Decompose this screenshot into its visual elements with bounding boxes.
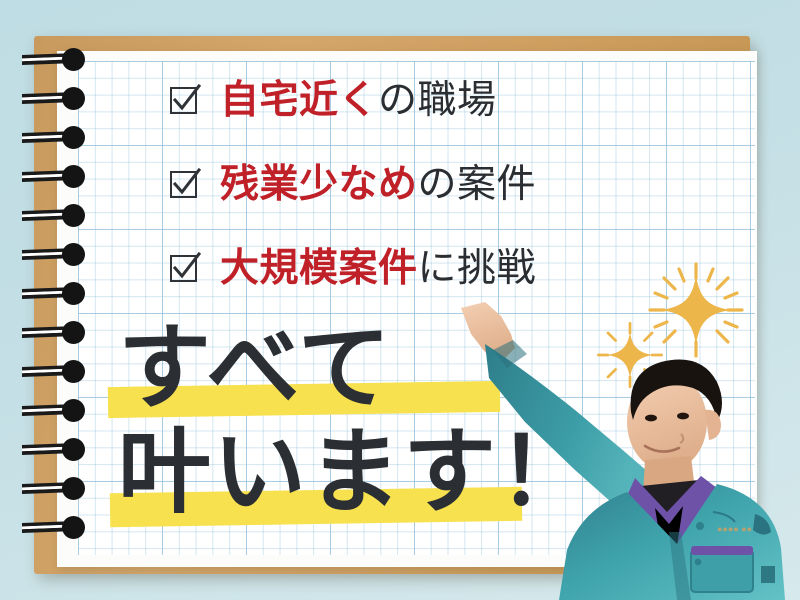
checklist-item: 自宅近くの職場 — [168, 58, 688, 142]
checklist-keyword: 残業少なめ — [220, 163, 418, 206]
spiral-ring — [0, 477, 90, 499]
ring-head — [62, 48, 85, 71]
spiral-ring — [0, 399, 90, 421]
checkbox-checked-icon — [168, 167, 202, 201]
poster-canvas: 自宅近くの職場 残業少なめの案件 大規模案件に挑戦 すべ — [0, 0, 800, 600]
spiral-ring — [0, 243, 90, 265]
checklist-item-text: 大規模案件に挑戦 — [220, 249, 536, 288]
spiral-ring — [0, 165, 90, 187]
checklist-item-text: 自宅近くの職場 — [220, 81, 497, 120]
checklist-item: 残業少なめの案件 — [168, 142, 688, 226]
checklist-tail: の職場 — [378, 79, 497, 122]
spiral-ring — [0, 516, 90, 538]
ring-head — [62, 477, 85, 500]
spiral-ring — [0, 126, 90, 148]
slogan-text-1: すべて — [118, 314, 393, 422]
ring-head — [62, 204, 85, 227]
checkbox-checked-icon — [168, 251, 202, 285]
ring-head — [62, 126, 85, 149]
spiral-ring — [0, 48, 90, 70]
spiral-ring — [0, 204, 90, 226]
ring-head — [62, 516, 85, 539]
checklist-keyword: 大規模案件 — [220, 247, 418, 290]
spiral-ring — [0, 321, 90, 343]
pointing-worker-photo: ●●●● ●● — [455, 300, 800, 600]
benefits-checklist: 自宅近くの職場 残業少なめの案件 大規模案件に挑戦 — [168, 58, 688, 310]
person-description: 男性作業員 指差しポーズ — [0, 0, 1, 1]
checklist-tail: の案件 — [418, 163, 537, 206]
ring-head — [62, 360, 85, 383]
spiral-ring — [0, 282, 90, 304]
ring-head — [62, 399, 85, 422]
svg-text:●●●● ●●: ●●●● ●● — [717, 524, 752, 534]
checklist-item-text: 残業少なめの案件 — [220, 165, 536, 204]
ring-head — [62, 165, 85, 188]
checkbox-checked-icon — [168, 83, 202, 117]
checklist-tail: に挑戦 — [418, 247, 537, 290]
pointing-arm — [461, 302, 655, 510]
spiral-ring — [0, 360, 90, 382]
spiral-binding — [0, 48, 110, 558]
checklist-keyword: 自宅近く — [220, 79, 378, 122]
ring-head — [62, 282, 85, 305]
ring-head — [62, 87, 85, 110]
ring-head — [62, 243, 85, 266]
spiral-ring — [0, 438, 90, 460]
spiral-ring — [0, 87, 90, 109]
ring-head — [62, 321, 85, 344]
checklist-item: 大規模案件に挑戦 — [168, 226, 688, 310]
worker-head — [627, 360, 722, 472]
ring-head — [62, 438, 85, 461]
